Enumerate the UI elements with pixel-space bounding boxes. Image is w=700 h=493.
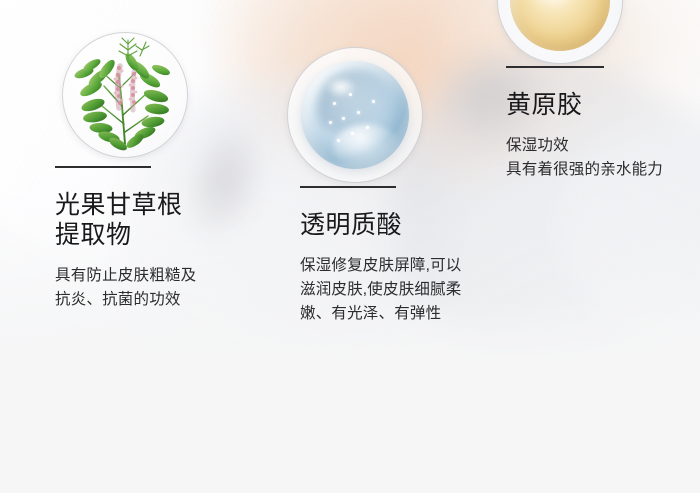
medallion-ring xyxy=(287,47,423,183)
background-bottom-fade xyxy=(0,300,700,493)
accent-divider xyxy=(55,166,151,168)
water-droplet-sphere-icon xyxy=(287,47,423,183)
ingredient-description: 具有防止皮肤粗糙及 抗炎、抗菌的功效 xyxy=(55,264,265,312)
ingredient-card-licorice: 光果甘草根 提取物 具有防止皮肤粗糙及 抗炎、抗菌的功效 xyxy=(55,166,265,312)
ingredient-card-hyaluronic: 透明质酸 保湿修复皮肤屏障,可以 滋润皮肤,使皮肤细腻柔 嫩、有光泽、有弹性 xyxy=(300,186,500,326)
ingredient-description: 保湿修复皮肤屏障,可以 滋润皮肤,使皮肤细腻柔 嫩、有光泽、有弹性 xyxy=(300,254,500,326)
ingredient-card-xanthan: 黄原胶 保湿功效 具有着很强的亲水能力 xyxy=(506,66,700,182)
ingredient-title: 黄原胶 xyxy=(506,90,700,120)
ingredients-poster: 光果甘草根 提取物 具有防止皮肤粗糙及 抗炎、抗菌的功效 透明质酸 保湿修复皮肤… xyxy=(0,0,700,493)
licorice-plant-illustration-icon xyxy=(62,32,188,158)
ingredient-title: 光果甘草根 提取物 xyxy=(55,190,265,250)
accent-divider xyxy=(300,186,396,188)
medallion-ring xyxy=(62,32,188,158)
ingredient-description: 保湿功效 具有着很强的亲水能力 xyxy=(506,134,700,182)
accent-divider xyxy=(506,66,604,68)
ingredient-title: 透明质酸 xyxy=(300,210,500,240)
